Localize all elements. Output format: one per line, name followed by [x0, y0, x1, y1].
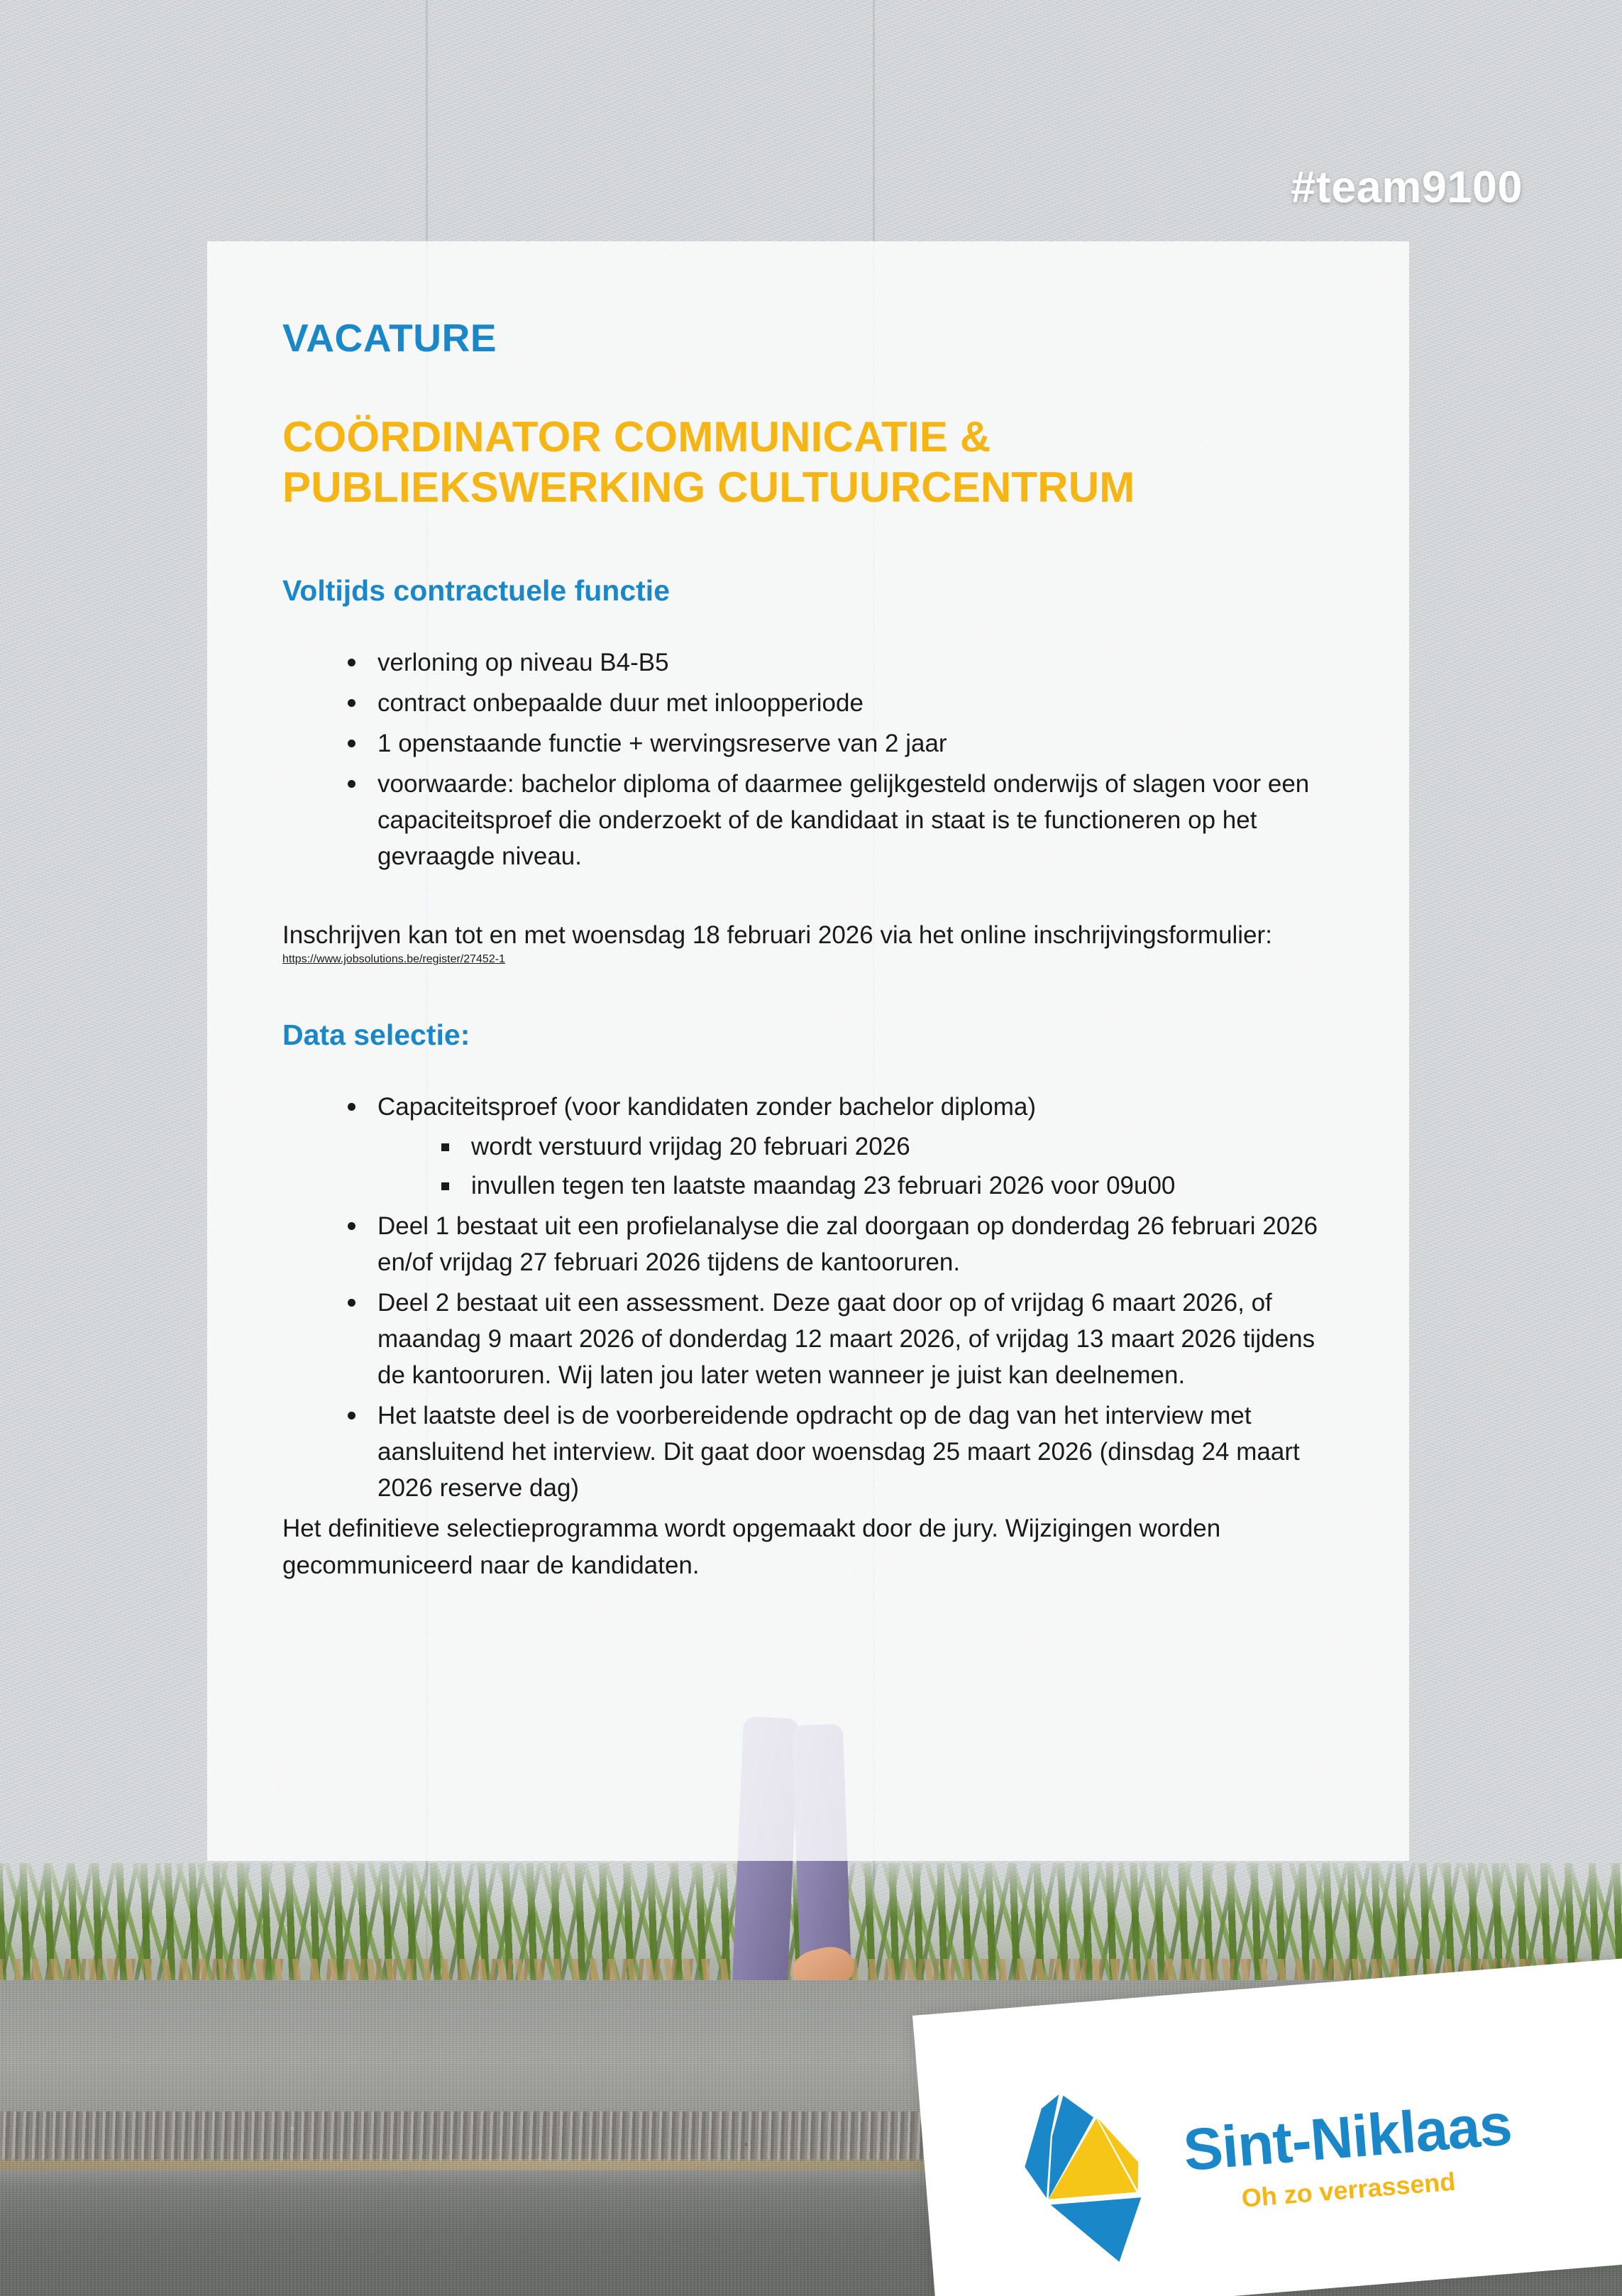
application-form-link[interactable]: https://www.jobsolutions.be/register/274…	[282, 953, 505, 965]
conditions-list: verloning op niveau B4-B5 contract onbep…	[282, 644, 1325, 875]
selection-list: Capaciteitsproef (voor kandidaten zonder…	[282, 1089, 1325, 1506]
content-card: VACATURE COÖRDINATOR COMMUNICATIE & PUBL…	[207, 241, 1409, 1861]
selection-dates-heading: Data selectie:	[282, 1018, 1325, 1052]
logo-wordmark: Sint-Niklaas Oh zo verrassend	[1181, 2094, 1517, 2218]
page-title: COÖRDINATOR COMMUNICATIE & PUBLIEKSWERKI…	[282, 412, 1325, 513]
hashtag-team9100: #team9100	[1291, 162, 1523, 213]
apply-text: Inschrijven kan tot en met woensdag 18 f…	[282, 917, 1325, 953]
job-type-subtitle: Voltijds contractuele functie	[282, 574, 1325, 608]
list-item: Capaciteitsproef (voor kandidaten zonder…	[343, 1089, 1325, 1203]
list-item: wordt verstuurd vrijdag 20 februari 2026	[437, 1128, 1325, 1165]
apply-block: Inschrijven kan tot en met woensdag 18 f…	[282, 917, 1325, 966]
list-item: verloning op niveau B4-B5	[343, 644, 1325, 681]
page-kicker: VACATURE	[282, 315, 1325, 361]
list-item: Het laatste deel is de voorbereidende op…	[343, 1397, 1325, 1506]
closing-paragraph: Het definitieve selectieprogramma wordt …	[282, 1510, 1325, 1583]
selection-sublist: wordt verstuurd vrijdag 20 februari 2026…	[377, 1128, 1325, 1204]
list-item: Deel 1 bestaat uit een profielanalyse di…	[343, 1208, 1325, 1280]
list-item: contract onbepaalde duur met inloopperio…	[343, 685, 1325, 721]
logo-name: Sint-Niklaas	[1181, 2094, 1513, 2180]
list-item: invullen tegen ten laatste maandag 23 fe…	[437, 1168, 1325, 1204]
poster-canvas: #team9100 VACATURE COÖRDINATOR COMMUNICA…	[0, 0, 1622, 2296]
list-item: Deel 2 bestaat uit een assessment. Deze …	[343, 1285, 1325, 1393]
list-item: 1 openstaande functie + wervingsreserve …	[343, 725, 1325, 762]
list-item-text: Capaciteitsproef (voor kandidaten zonder…	[377, 1093, 1036, 1121]
list-item: voorwaarde: bachelor diploma of daarmee …	[343, 766, 1325, 874]
sint-niklaas-logo-icon	[1015, 2083, 1159, 2270]
